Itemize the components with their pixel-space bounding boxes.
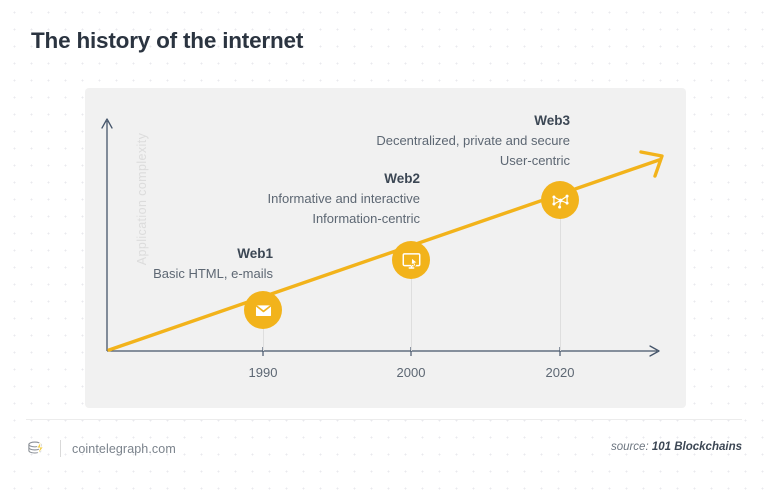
- milestone-marker-web2: [392, 241, 430, 279]
- annotation-web3: Web3 Decentralized, private and secure U…: [270, 113, 570, 171]
- dropline-web3: [560, 219, 561, 351]
- infographic-canvas: The history of the internet Application …: [0, 0, 768, 492]
- dropline-web1: [263, 329, 264, 351]
- annotation-web3-title: Web3: [270, 113, 570, 128]
- cointelegraph-logo-icon: [26, 437, 49, 460]
- brand-divider: [60, 440, 61, 457]
- page-title: The history of the internet: [31, 28, 303, 54]
- annotation-web2-line1: Informative and interactive: [120, 189, 420, 209]
- source-label: source:: [611, 441, 649, 453]
- network-nodes-icon: [550, 190, 571, 211]
- source-attribution: source: 101 Blockchains: [611, 441, 742, 453]
- annotation-web1-title: Web1: [0, 246, 273, 261]
- annotation-web1: Web1 Basic HTML, e-mails: [0, 246, 273, 284]
- annotation-web3-line1: Decentralized, private and secure: [270, 131, 570, 151]
- milestone-marker-web1: [244, 291, 282, 329]
- chart-panel: Application complexity 1990 2000 2020: [85, 88, 686, 408]
- x-axis-tick-label-2000: 2000: [381, 365, 441, 380]
- x-axis-tick-label-1990: 1990: [233, 365, 293, 380]
- monitor-cursor-icon: [401, 250, 422, 271]
- dropline-web2: [411, 279, 412, 351]
- annotation-web2-line2: Information-centric: [120, 209, 420, 229]
- brand-url[interactable]: cointelegraph.com: [72, 442, 176, 456]
- milestone-marker-web3: [541, 181, 579, 219]
- annotation-web3-line2: User-centric: [270, 151, 570, 171]
- x-axis-tick-label-2020: 2020: [530, 365, 590, 380]
- annotation-web2: Web2 Informative and interactive Informa…: [120, 171, 420, 229]
- annotation-web2-title: Web2: [120, 171, 420, 186]
- footer-divider: [26, 419, 742, 420]
- annotation-web1-line1: Basic HTML, e-mails: [0, 264, 273, 284]
- source-name: 101 Blockchains: [652, 441, 742, 453]
- brand-block[interactable]: cointelegraph.com: [26, 437, 176, 460]
- envelope-icon: [254, 301, 273, 320]
